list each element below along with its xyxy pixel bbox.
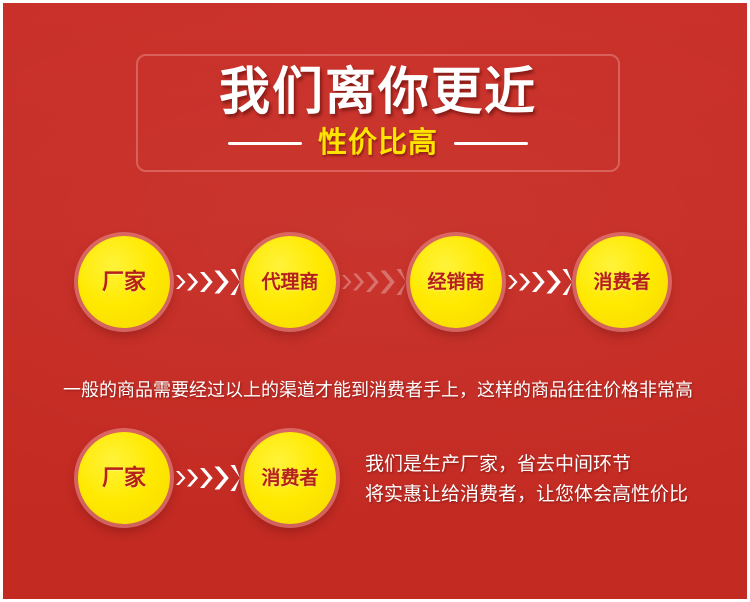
page-subtitle: 性价比高 bbox=[318, 126, 438, 160]
chevron-arrows-icon bbox=[170, 262, 244, 302]
flow-node-label: 厂家 bbox=[102, 467, 146, 489]
subtitle-row: 性价比高 bbox=[138, 126, 618, 160]
dash-left-decoration bbox=[228, 142, 302, 145]
title-box: 我们离你更近 性价比高 bbox=[136, 54, 620, 172]
supply-chain-flow-long: 厂家 代理商 bbox=[78, 236, 668, 328]
promo-banner: 我们离你更近 性价比高 厂家 代理商 bbox=[0, 0, 750, 602]
flow-node-label: 经销商 bbox=[427, 273, 484, 292]
chevron-arrows-icon bbox=[502, 262, 576, 302]
flow-node-distributor: 经销商 bbox=[410, 236, 502, 328]
side-copy: 我们是生产厂家，省去中间环节 将实惠让给消费者，让您体会高性价比 bbox=[365, 450, 688, 510]
flow-node-label: 消费者 bbox=[261, 469, 318, 488]
flow-node-consumer: 消费者 bbox=[576, 236, 668, 328]
flow-node-label: 厂家 bbox=[102, 271, 146, 293]
middle-caption: 一般的商品需要经过以上的渠道才能到消费者手上，这样的商品往往价格非常高 bbox=[3, 377, 750, 403]
supply-chain-flow-short: 厂家 消费者 bbox=[78, 432, 336, 524]
chevron-arrows-icon-dim bbox=[336, 262, 410, 302]
side-copy-line-1: 我们是生产厂家，省去中间环节 bbox=[365, 450, 688, 480]
dash-right-decoration bbox=[454, 142, 528, 145]
side-copy-line-2: 将实惠让给消费者，让您体会高性价比 bbox=[365, 480, 688, 510]
page-title: 我们离你更近 bbox=[138, 62, 618, 122]
flow-node-consumer-direct: 消费者 bbox=[244, 432, 336, 524]
chevron-arrows-icon bbox=[170, 458, 244, 498]
flow-node-agent: 代理商 bbox=[244, 236, 336, 328]
flow-node-label: 代理商 bbox=[261, 273, 318, 292]
flow-node-label: 消费者 bbox=[593, 273, 650, 292]
flow-node-manufacturer-direct: 厂家 bbox=[78, 432, 170, 524]
flow-node-manufacturer: 厂家 bbox=[78, 236, 170, 328]
